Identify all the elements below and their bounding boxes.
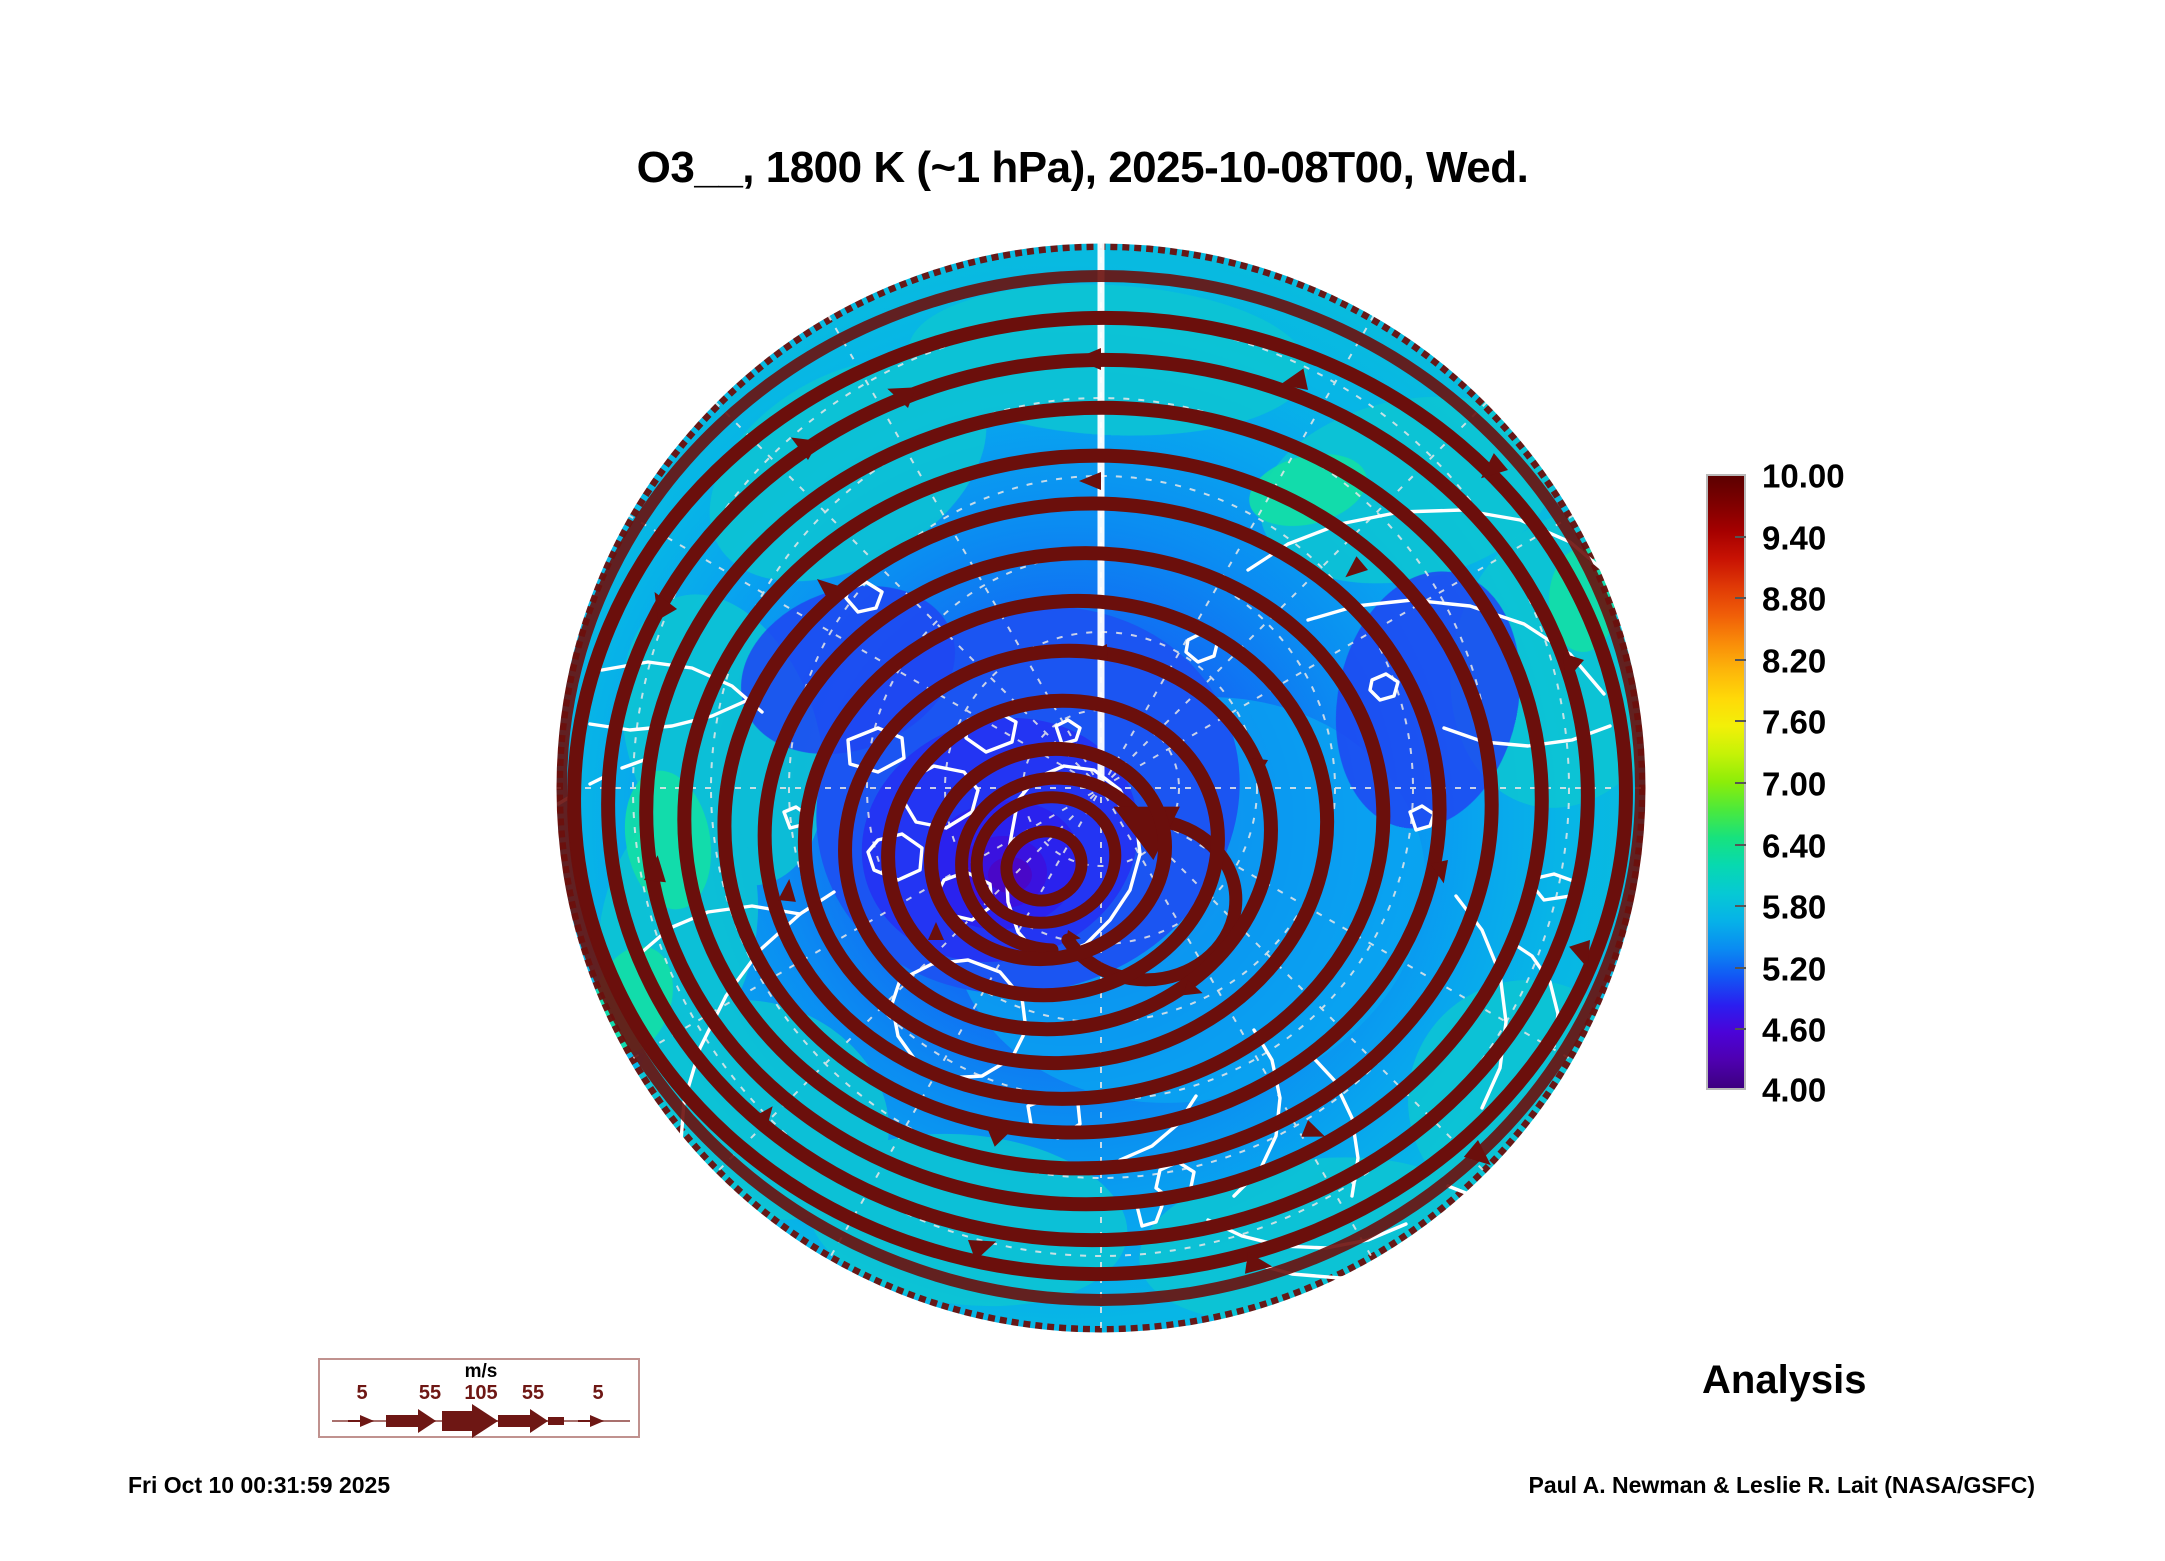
colorbar-tick xyxy=(1735,536,1746,538)
wind-value: 55 xyxy=(522,1382,544,1405)
wind-value: 5 xyxy=(592,1382,603,1405)
colorbar-label: 8.80 xyxy=(1762,583,1826,616)
colorbar-label: 7.60 xyxy=(1762,706,1826,739)
wind-arrow-scale-icon xyxy=(320,1404,642,1438)
wind-unit-label: m/s xyxy=(320,1361,642,1383)
colorbar-label: 8.20 xyxy=(1762,644,1826,677)
colorbar-label: 9.40 xyxy=(1762,521,1826,554)
colorbar-tick xyxy=(1735,905,1746,907)
polar-map-panel xyxy=(548,240,1654,1336)
generation-timestamp: Fri Oct 10 00:31:59 2025 xyxy=(128,1472,390,1499)
wind-value: 55 xyxy=(419,1382,441,1405)
globe-disc xyxy=(548,240,1654,1336)
colorbar-label: 4.60 xyxy=(1762,1014,1826,1047)
wind-value: 105 xyxy=(464,1382,497,1405)
colorbar-label: 4.00 xyxy=(1762,1074,1826,1107)
colorbar-label: 10.00 xyxy=(1762,460,1845,493)
page-title: O3__, 1800 K (~1 hPa), 2025-10-08T00, We… xyxy=(0,143,2165,193)
colorbar-tick xyxy=(1735,1028,1746,1030)
colorbar-tick xyxy=(1735,844,1746,846)
wind-speed-legend: m/s 5 55 105 55 5 xyxy=(318,1358,640,1438)
author-credit: Paul A. Newman & Leslie R. Lait (NASA/GS… xyxy=(1528,1472,2035,1499)
colorbar-label: 6.40 xyxy=(1762,829,1826,862)
colorbar-tick xyxy=(1735,782,1746,784)
colorbar-label: 5.80 xyxy=(1762,891,1826,924)
analysis-label: Analysis xyxy=(1702,1358,1867,1403)
colorbar-tick xyxy=(1735,720,1746,722)
colorbar-label: 5.20 xyxy=(1762,952,1826,985)
colorbar: 10.00 9.40 8.80 8.20 7.60 7.00 6.40 5.80… xyxy=(1706,474,2106,1094)
colorbar-tick xyxy=(1735,597,1746,599)
colorbar-tick xyxy=(1735,659,1746,661)
colorbar-tick xyxy=(1735,967,1746,969)
wind-value: 5 xyxy=(356,1382,367,1405)
colorbar-label: 7.00 xyxy=(1762,768,1826,801)
